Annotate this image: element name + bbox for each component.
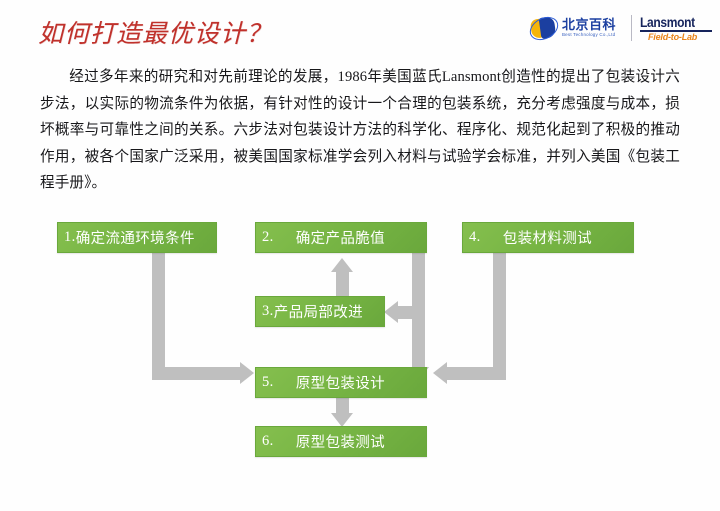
flow-node-step5-number: 5. (256, 374, 296, 391)
flow-node-step2-label: 确定产品脆值 (296, 227, 385, 248)
lansmont-wordmark: Lansmont (640, 15, 702, 29)
logo-chinese-name: 北京百科 (562, 18, 616, 31)
flow-node-step1[interactable]: 1. 确定流通环境条件 (57, 222, 217, 253)
flow-node-step3-label: 产品局部改进 (274, 301, 363, 322)
slide-canvas: 如何打造最优设计？ 北京百科 Best Technology Co.,Ltd L… (0, 0, 720, 511)
connector-step4-to-step5-vertical (493, 252, 506, 380)
connector-step4-to-step5-arrowhead (433, 362, 447, 384)
flow-node-step5[interactable]: 5. 原型包装设计 (255, 367, 427, 398)
connector-step1-to-step5-vertical (152, 252, 165, 374)
sphere-logo-icon (529, 14, 559, 42)
flow-node-step6[interactable]: 6. 原型包装测试 (255, 426, 427, 457)
logo-bar: 北京百科 Best Technology Co.,Ltd Lansmont Fi… (529, 11, 712, 45)
flow-node-step4-label: 包装材料测试 (503, 227, 592, 248)
logo-divider (631, 15, 632, 41)
flow-node-step2[interactable]: 2. 确定产品脆值 (255, 222, 427, 253)
connector-step1-to-step5-arrowhead (240, 362, 254, 384)
connector-step4-to-step5-horizontal (447, 367, 506, 380)
lansmont-logo: Lansmont Field-to-Lab (640, 15, 712, 42)
lansmont-tagline: Field-to-Lab (648, 33, 712, 42)
flow-node-step6-number: 6. (256, 433, 296, 450)
flow-node-step3-number: 3. (256, 303, 274, 320)
flow-node-step1-number: 1. (58, 229, 76, 246)
flow-node-step4[interactable]: 4. 包装材料测试 (462, 222, 634, 253)
flow-node-step5-label: 原型包装设计 (296, 372, 385, 393)
page-title: 如何打造最优设计？ (38, 14, 272, 50)
body-paragraph: 经过多年来的研究和对先前理论的发展，1986年美国蓝氏Lansmont创造性的提… (40, 64, 680, 197)
connector-step5-to-step6-arrowhead (331, 413, 353, 427)
flow-node-step1-label: 确定流通环境条件 (76, 227, 195, 248)
beijing-baike-logo: 北京百科 Best Technology Co.,Ltd (529, 12, 623, 44)
connector-step3-to-step2-arrowhead (331, 258, 353, 272)
connector-step1-to-step5-horizontal (152, 367, 240, 380)
flow-node-step6-label: 原型包装测试 (296, 431, 385, 452)
flow-node-step3[interactable]: 3. 产品局部改进 (255, 296, 385, 327)
logo-english-name: Best Technology Co.,Ltd (562, 33, 616, 38)
connector-step5-to-step6-shaft (336, 398, 349, 413)
connector-to-step3-arrowhead (384, 301, 398, 323)
six-step-flow-diagram: 1. 确定流通环境条件 2. 确定产品脆值 4. 包装材料测试 3. 产品局部改… (0, 200, 720, 490)
connector-to-step3-horizontal (398, 306, 425, 319)
flow-node-step4-number: 4. (463, 229, 503, 246)
flow-node-step2-number: 2. (256, 229, 296, 246)
